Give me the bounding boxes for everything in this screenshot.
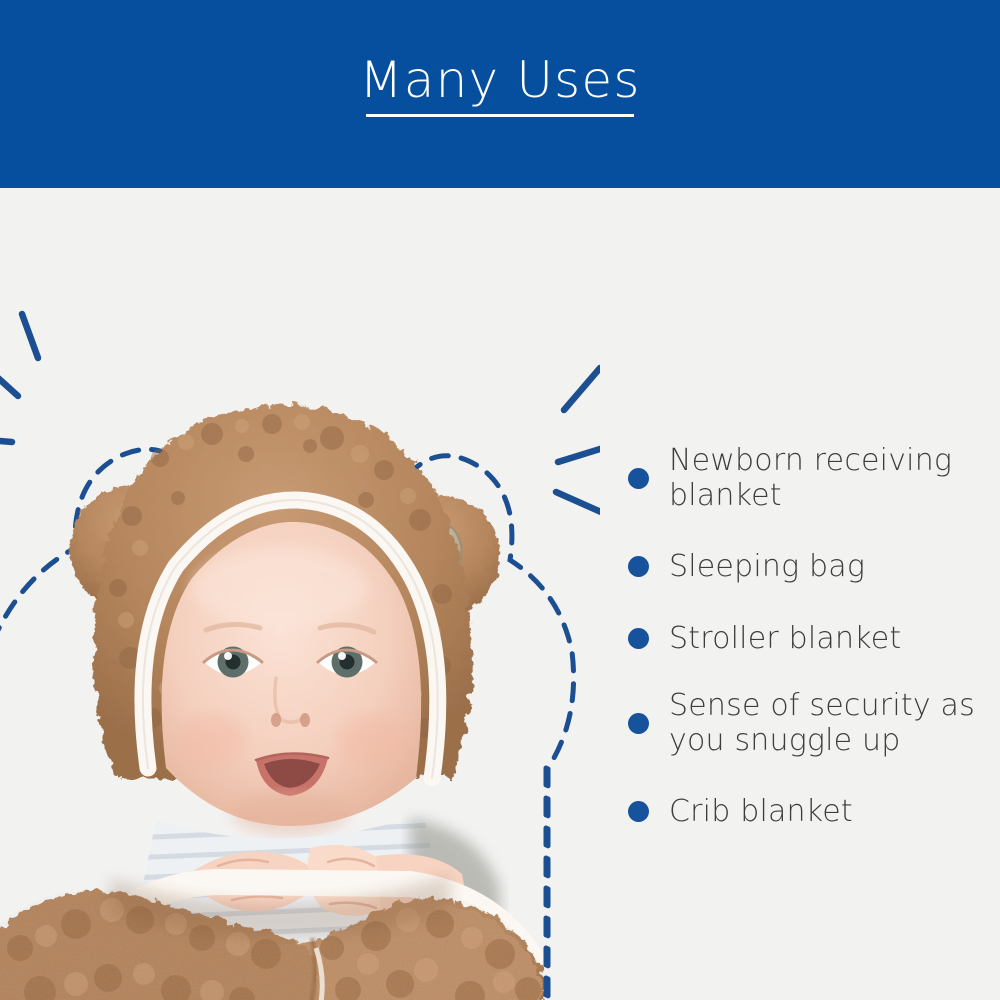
list-item: Stroller blanket <box>628 616 988 662</box>
product-infographic-page: Many Uses <box>0 0 1000 1000</box>
header-title-wrap: Many Uses <box>359 55 640 117</box>
baby-face <box>162 522 422 836</box>
bullet-icon <box>628 801 649 822</box>
list-item-label: Crib blanket <box>669 794 853 829</box>
accent-lines-left <box>0 314 38 442</box>
list-item: Crib blanket <box>628 789 988 835</box>
page-title: Many Uses <box>359 55 640 105</box>
title-underline <box>366 114 634 117</box>
content-area: Newborn receiving blanket Sleeping bag S… <box>0 188 1000 1000</box>
list-item: Sense of security as you snuggle up <box>628 688 988 759</box>
bullet-icon <box>628 713 649 734</box>
list-item-label: Sense of security as you snuggle up <box>669 688 988 759</box>
uses-list: Newborn receiving blanket Sleeping bag S… <box>628 443 988 861</box>
list-item-label: Stroller blanket <box>669 621 901 656</box>
list-item: Newborn receiving blanket <box>628 443 988 514</box>
header-band: Many Uses <box>0 0 1000 188</box>
list-item: Sleeping bag <box>628 544 988 590</box>
list-item-label: Sleeping bag <box>669 549 865 584</box>
accent-lines-right <box>556 368 600 516</box>
product-photo <box>0 248 600 1000</box>
list-item-label: Newborn receiving blanket <box>669 443 988 514</box>
bullet-icon <box>628 628 649 649</box>
bullet-icon <box>628 556 649 577</box>
bullet-icon <box>628 468 649 489</box>
